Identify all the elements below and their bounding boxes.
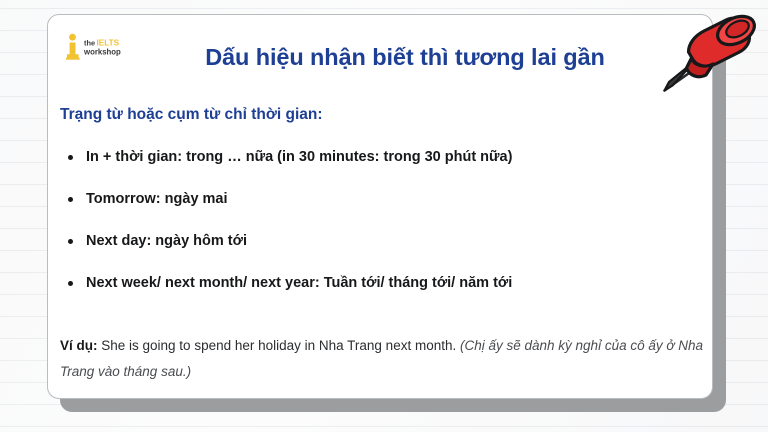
example-block: Ví dụ: She is going to spend her holiday… (60, 333, 708, 385)
list-item: Tomorrow: ngày mai (60, 190, 700, 209)
pushpin-icon (648, 0, 766, 92)
list-item-label: Tomorrow: ngày mai (86, 191, 228, 207)
slide-canvas: the IELTS workshop Dấu hiệu nhận biết th… (0, 0, 768, 432)
bullet-dot-icon (68, 197, 73, 202)
bullet-dot-icon (68, 155, 73, 160)
list-item-label: In + thời gian: trong … nữa (in 30 minut… (86, 149, 512, 165)
example-english-sentence: She is going to spend her holiday in Nha… (98, 338, 460, 353)
list-item: Next day: ngày hôm tới (60, 232, 700, 251)
section-subtitle: Trạng từ hoặc cụm từ chỉ thời gian: (60, 106, 323, 124)
page-title: Dấu hiệu nhận biết thì tương lai gần (48, 44, 713, 71)
time-expression-list: In + thời gian: trong … nữa (in 30 minut… (60, 148, 700, 293)
content-card: the IELTS workshop Dấu hiệu nhận biết th… (47, 14, 713, 399)
list-item-label: Next week/ next month/ next year: Tuần t… (86, 275, 512, 291)
bullet-dot-icon (68, 239, 73, 244)
list-item: In + thời gian: trong … nữa (in 30 minut… (60, 148, 700, 167)
list-item: Next week/ next month/ next year: Tuần t… (60, 274, 700, 293)
example-label: Ví dụ: (60, 338, 98, 353)
bullet-dot-icon (68, 281, 73, 286)
list-item-label: Next day: ngày hôm tới (86, 233, 247, 249)
